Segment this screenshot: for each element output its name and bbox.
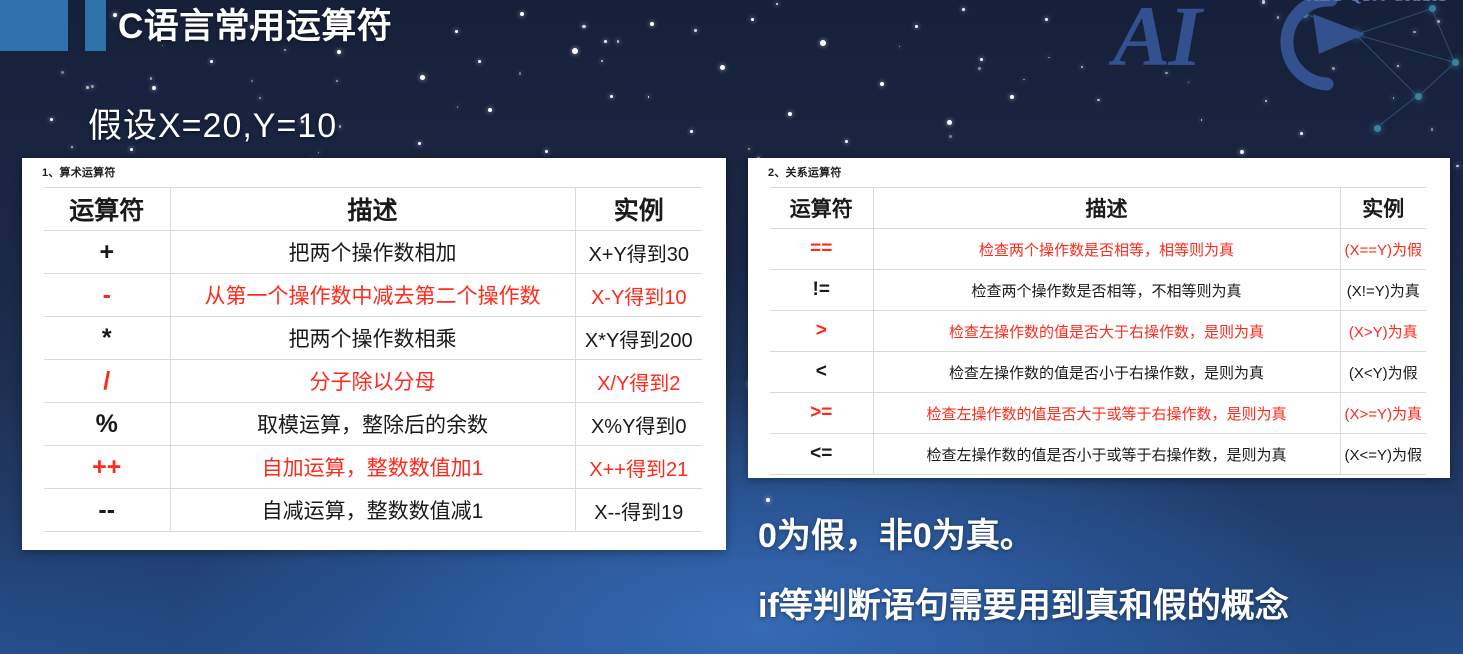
table-row: <检查左操作数的值是否小于右操作数，是则为真(X<Y)为假 xyxy=(770,352,1426,393)
cell-example: X/Y得到2 xyxy=(575,360,702,403)
network-edge xyxy=(1356,8,1432,35)
star-dot xyxy=(962,8,965,11)
star-dot xyxy=(751,18,754,21)
star-dot xyxy=(150,77,153,80)
cell-description: 检查左操作数的值是否小于或等于右操作数，是则为真 xyxy=(873,434,1340,475)
star-dot xyxy=(899,46,900,47)
cell-operator: ++ xyxy=(44,446,170,489)
star-dot xyxy=(1431,128,1434,131)
star-dot xyxy=(690,130,693,133)
table-row: !=检查两个操作数是否相等，不相等则为真(X!=Y)为真 xyxy=(770,270,1426,311)
star-dot xyxy=(776,3,778,5)
watermark-logo-text: AI xyxy=(1113,0,1200,86)
table-header-row: 运算符 描述 实例 xyxy=(770,188,1426,229)
star-dot xyxy=(1045,18,1048,21)
network-edge xyxy=(1431,8,1455,62)
table-row: ++自加运算，整数数值加1X++得到21 xyxy=(44,446,702,489)
star-dot xyxy=(1277,16,1279,18)
cell-description: 检查左操作数的值是否大于右操作数，是则为真 xyxy=(873,311,1340,352)
network-node xyxy=(1452,59,1459,66)
network-edge xyxy=(1376,95,1418,128)
table-body: +把两个操作数相加X+Y得到30-从第一个操作数中减去第二个操作数X-Y得到10… xyxy=(44,231,702,532)
network-edge xyxy=(1304,13,1356,34)
star-dot xyxy=(455,30,458,33)
star-dot xyxy=(1456,165,1459,168)
star-dot xyxy=(820,40,826,46)
star-dot xyxy=(1393,97,1395,99)
star-dot xyxy=(210,60,213,63)
star-dot xyxy=(86,86,89,89)
watermark-tagline: AEC-Q100 Grade1 xyxy=(1307,0,1446,6)
cell-description: 把两个操作数相乘 xyxy=(170,317,575,360)
star-dot xyxy=(845,140,848,143)
star-dot xyxy=(418,142,421,145)
star-dot xyxy=(1023,79,1024,80)
cell-example: (X>Y)为真 xyxy=(1340,311,1426,352)
table-row: ==检查两个操作数是否相等，相等则为真(X==Y)为假 xyxy=(770,229,1426,270)
star-dot xyxy=(1265,100,1267,102)
cell-description: 自减运算，整数数值减1 xyxy=(170,489,575,532)
star-dot xyxy=(251,80,253,82)
column-header-example: 实例 xyxy=(575,188,702,231)
star-dot xyxy=(339,125,342,128)
column-header-description: 描述 xyxy=(170,188,575,231)
network-node xyxy=(1374,125,1381,132)
cell-description: 自加运算，整数数值加1 xyxy=(170,446,575,489)
cell-example: X--得到19 xyxy=(575,489,702,532)
table-row: >=检查左操作数的值是否大于或等于右操作数，是则为真(X>=Y)为真 xyxy=(770,393,1426,434)
cell-description: 从第一个操作数中减去第二个操作数 xyxy=(170,274,575,317)
cell-description: 检查两个操作数是否相等，相等则为真 xyxy=(873,229,1340,270)
cell-example: (X!=Y)为真 xyxy=(1340,270,1426,311)
star-dot xyxy=(519,72,521,74)
star-dot xyxy=(601,60,603,62)
cell-operator: -- xyxy=(44,489,170,532)
star-dot xyxy=(113,13,117,17)
star-dot xyxy=(1010,95,1014,99)
relational-operators-card: 2、关系运算符 运算符 描述 实例 ==检查两个操作数是否相等，相等则为真(X=… xyxy=(748,158,1450,478)
cell-operator: < xyxy=(770,352,873,393)
table-row: --自减运算，整数数值减1X--得到19 xyxy=(44,489,702,532)
cell-description: 检查左操作数的值是否大于或等于右操作数，是则为真 xyxy=(873,393,1340,434)
cell-operator: * xyxy=(44,317,170,360)
cell-example: (X==Y)为假 xyxy=(1340,229,1426,270)
star-dot xyxy=(457,106,459,108)
star-dot xyxy=(336,80,338,82)
star-dot xyxy=(545,150,548,153)
cell-example: (X>=Y)为真 xyxy=(1340,393,1426,434)
cell-operator: - xyxy=(44,274,170,317)
table-row: /分子除以分母X/Y得到2 xyxy=(44,360,702,403)
star-dot xyxy=(572,48,578,54)
cell-description: 分子除以分母 xyxy=(170,360,575,403)
star-dot xyxy=(720,65,725,70)
circular-arrow-icon xyxy=(1253,0,1403,108)
star-dot xyxy=(1413,31,1415,33)
cell-description: 把两个操作数相加 xyxy=(170,231,575,274)
table-row: *把两个操作数相乘X*Y得到200 xyxy=(44,317,702,360)
column-header-operator: 运算符 xyxy=(44,188,170,231)
star-dot xyxy=(880,82,884,86)
star-dot xyxy=(650,22,654,26)
star-dot xyxy=(978,67,981,70)
cell-description: 取模运算，整除后的余数 xyxy=(170,403,575,446)
network-edge xyxy=(1418,62,1456,97)
column-header-example: 实例 xyxy=(1340,188,1426,229)
column-header-operator: 运算符 xyxy=(770,188,873,229)
slide-canvas: C语言常用运算符 假设X=20,Y=10 AI AEC-Q100 Grade1 … xyxy=(0,0,1463,654)
arithmetic-operators-card: 1、算术运算符 运算符 描述 实例 +把两个操作数相加X+Y得到30-从第一个操… xyxy=(22,158,726,550)
star-dot xyxy=(1397,65,1399,67)
network-node xyxy=(1353,31,1360,38)
cell-example: X-Y得到10 xyxy=(575,274,702,317)
star-dot xyxy=(1081,66,1084,69)
star-dot xyxy=(478,60,481,63)
network-node xyxy=(1415,93,1422,100)
cell-operator: >= xyxy=(770,393,873,434)
cell-operator: + xyxy=(44,231,170,274)
star-dot xyxy=(604,40,607,43)
cell-example: (X<=Y)为假 xyxy=(1340,434,1426,475)
relational-operators-table: 运算符 描述 实例 ==检查两个操作数是否相等，相等则为真(X==Y)为假!=检… xyxy=(770,187,1426,475)
cell-description: 检查两个操作数是否相等，不相等则为真 xyxy=(873,270,1340,311)
table-body: ==检查两个操作数是否相等，相等则为真(X==Y)为假!=检查两个操作数是否相等… xyxy=(770,229,1426,475)
star-dot xyxy=(610,95,613,98)
cell-operator: != xyxy=(770,270,873,311)
table-row: +把两个操作数相加X+Y得到30 xyxy=(44,231,702,274)
cell-example: X*Y得到200 xyxy=(575,317,702,360)
star-dot xyxy=(61,71,64,74)
brand-watermark: AI AEC-Q100 Grade1 xyxy=(1085,0,1415,106)
table-row: <=检查左操作数的值是否小于或等于右操作数，是则为真(X<=Y)为假 xyxy=(770,434,1426,475)
star-dot xyxy=(488,108,492,112)
cell-example: X+Y得到30 xyxy=(575,231,702,274)
star-dot xyxy=(420,75,425,80)
cell-operator: > xyxy=(770,311,873,352)
star-dot xyxy=(130,148,133,151)
arithmetic-operators-table: 运算符 描述 实例 +把两个操作数相加X+Y得到30-从第一个操作数中减去第二个… xyxy=(44,187,702,532)
star-dot xyxy=(980,58,983,61)
note-truth-values: 0为假，非0为真。 xyxy=(758,508,1034,557)
star-dot xyxy=(1188,82,1189,83)
cell-example: X%Y得到0 xyxy=(575,403,702,446)
star-dot xyxy=(1332,67,1335,70)
star-dot xyxy=(582,25,585,28)
star-dot xyxy=(1300,132,1303,135)
star-dot xyxy=(1097,99,1099,101)
cell-operator: / xyxy=(44,360,170,403)
star-dot xyxy=(648,96,650,98)
cell-example: X++得到21 xyxy=(575,446,702,489)
cell-example: (X<Y)为假 xyxy=(1340,352,1426,393)
note-if-statement: if等判断语句需要用到真和假的概念 xyxy=(758,578,1289,627)
column-header-description: 描述 xyxy=(873,188,1340,229)
table-row: -从第一个操作数中减去第二个操作数X-Y得到10 xyxy=(44,274,702,317)
star-dot xyxy=(1201,119,1203,121)
network-node xyxy=(1301,11,1308,18)
star-dot xyxy=(71,146,74,149)
star-dot xyxy=(520,12,524,16)
table-caption: 1、算术运算符 xyxy=(22,158,726,180)
star-dot xyxy=(1165,72,1167,74)
cell-description: 检查左操作数的值是否小于右操作数，是则为真 xyxy=(873,352,1340,393)
star-dot xyxy=(949,135,952,138)
star-dot xyxy=(1262,0,1265,3)
star-dot xyxy=(337,50,341,54)
page-title: C语言常用运算符 xyxy=(118,0,392,49)
star-dot xyxy=(152,86,156,90)
table-caption: 2、关系运算符 xyxy=(748,158,1450,180)
star-dot xyxy=(947,120,952,125)
network-node xyxy=(1429,5,1436,12)
cell-operator: == xyxy=(770,229,873,270)
table-row: >检查左操作数的值是否大于右操作数，是则为真(X>Y)为真 xyxy=(770,311,1426,352)
star-dot xyxy=(766,498,770,502)
star-dot xyxy=(284,49,286,51)
star-dot xyxy=(91,85,93,87)
star-dot xyxy=(1048,57,1050,59)
star-dot xyxy=(318,152,319,153)
title-accent-block xyxy=(0,0,68,51)
assumption-subtitle: 假设X=20,Y=10 xyxy=(88,98,337,147)
star-dot xyxy=(748,148,750,150)
star-dot xyxy=(50,118,53,121)
star-dot xyxy=(788,112,792,116)
table-header-row: 运算符 描述 实例 xyxy=(44,188,702,231)
title-accent-bar xyxy=(85,0,106,51)
star-dot xyxy=(915,25,918,28)
cell-operator: % xyxy=(44,403,170,446)
star-dot xyxy=(694,29,697,32)
star-dot xyxy=(1240,150,1244,154)
star-dot xyxy=(617,40,620,43)
cell-operator: <= xyxy=(770,434,873,475)
table-row: %取模运算，整除后的余数X%Y得到0 xyxy=(44,403,702,446)
